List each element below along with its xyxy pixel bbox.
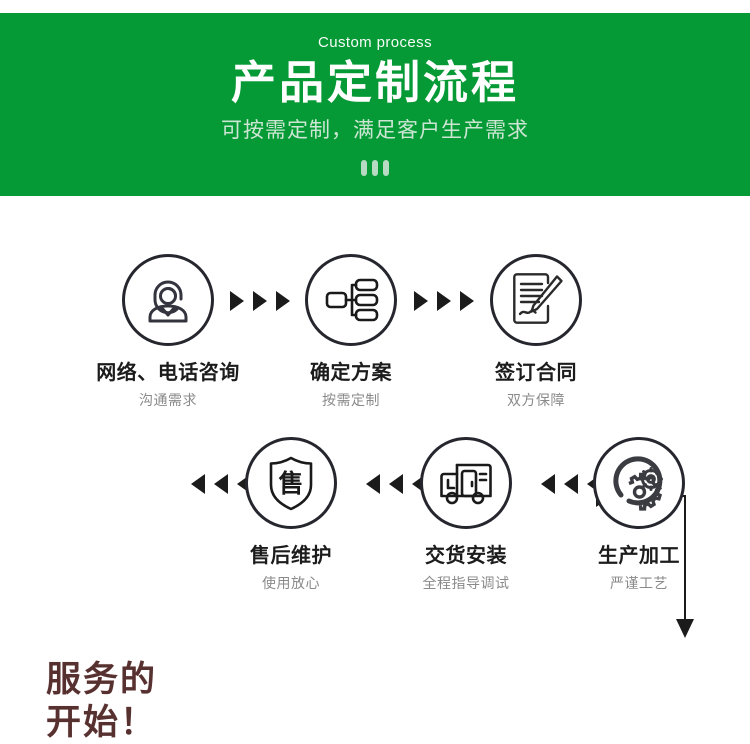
banner-dots-decoration xyxy=(361,160,389,176)
flow-step-title: 生产加工 xyxy=(564,545,714,567)
shield-char: 售 xyxy=(278,469,303,498)
plan-icon-circle xyxy=(305,254,397,346)
flow-step-desc: 全程指导调试 xyxy=(391,576,541,591)
after-sales-shield-icon: 售 xyxy=(260,452,322,514)
flow-step-title: 网络、电话咨询 xyxy=(93,362,243,384)
arrow-right-icon xyxy=(253,291,267,311)
flow-step-title: 签订合同 xyxy=(461,362,611,384)
dot-bar-2 xyxy=(372,160,378,176)
flow-step-after-sales[interactable]: 售 售后维护 使用放心 xyxy=(216,437,366,591)
page-title: 产品定制流程 xyxy=(231,59,519,106)
banner-eyebrow: Custom process xyxy=(318,35,432,50)
flow-step-desc: 双方保障 xyxy=(461,393,611,408)
flow-step-desc: 严谨工艺 xyxy=(564,576,714,591)
flow-step-title: 确定方案 xyxy=(276,362,426,384)
contract-icon-circle xyxy=(490,254,582,346)
delivery-icon-circle xyxy=(420,437,512,529)
flow-step-desc: 按需定制 xyxy=(276,393,426,408)
flow-step-desc: 沟通需求 xyxy=(93,393,243,408)
arrow-left-icon xyxy=(191,474,205,494)
flow-step-desc: 使用放心 xyxy=(216,576,366,591)
process-flow-diagram: 网络、电话咨询 沟通需求 确定方案 按需定制 xyxy=(0,196,750,634)
after-sales-icon-circle: 售 xyxy=(245,437,337,529)
consultation-icon-circle xyxy=(122,254,214,346)
production-icon-circle xyxy=(593,437,685,529)
arrow-left-icon xyxy=(366,474,380,494)
flow-step-production[interactable]: 生产加工 严谨工艺 xyxy=(564,437,714,591)
header-banner: Custom process 产品定制流程 可按需定制，满足客户生产需求 xyxy=(0,13,750,196)
arrow-down-icon xyxy=(676,619,694,638)
flow-step-delivery[interactable]: 交货安装 全程指导调试 xyxy=(391,437,541,591)
dot-bar-1 xyxy=(361,160,367,176)
flow-step-consultation[interactable]: 网络、电话咨询 沟通需求 xyxy=(93,254,243,408)
flow-step-title: 交货安装 xyxy=(391,545,541,567)
flow-step-plan[interactable]: 确定方案 按需定制 xyxy=(276,254,426,408)
service-note-line2: 开始！ xyxy=(46,701,157,744)
consultation-person-icon xyxy=(137,269,199,331)
flow-step-title: 售后维护 xyxy=(216,545,366,567)
dot-bar-3 xyxy=(383,160,389,176)
delivery-truck-icon xyxy=(435,452,497,514)
plan-flowchart-icon xyxy=(320,269,382,331)
arrow-left-icon xyxy=(541,474,555,494)
arrow-right-icon xyxy=(230,291,244,311)
arrow-right-icon xyxy=(414,291,428,311)
flow-step-contract[interactable]: 签订合同 双方保障 xyxy=(461,254,611,408)
contract-signing-icon xyxy=(505,269,567,331)
arrow-right-icon xyxy=(437,291,451,311)
service-start-note: 服务的 开始！ xyxy=(46,658,157,744)
service-note-line1: 服务的 xyxy=(46,658,157,701)
production-gears-icon xyxy=(607,451,671,515)
banner-subtitle: 可按需定制，满足客户生产需求 xyxy=(221,120,529,141)
